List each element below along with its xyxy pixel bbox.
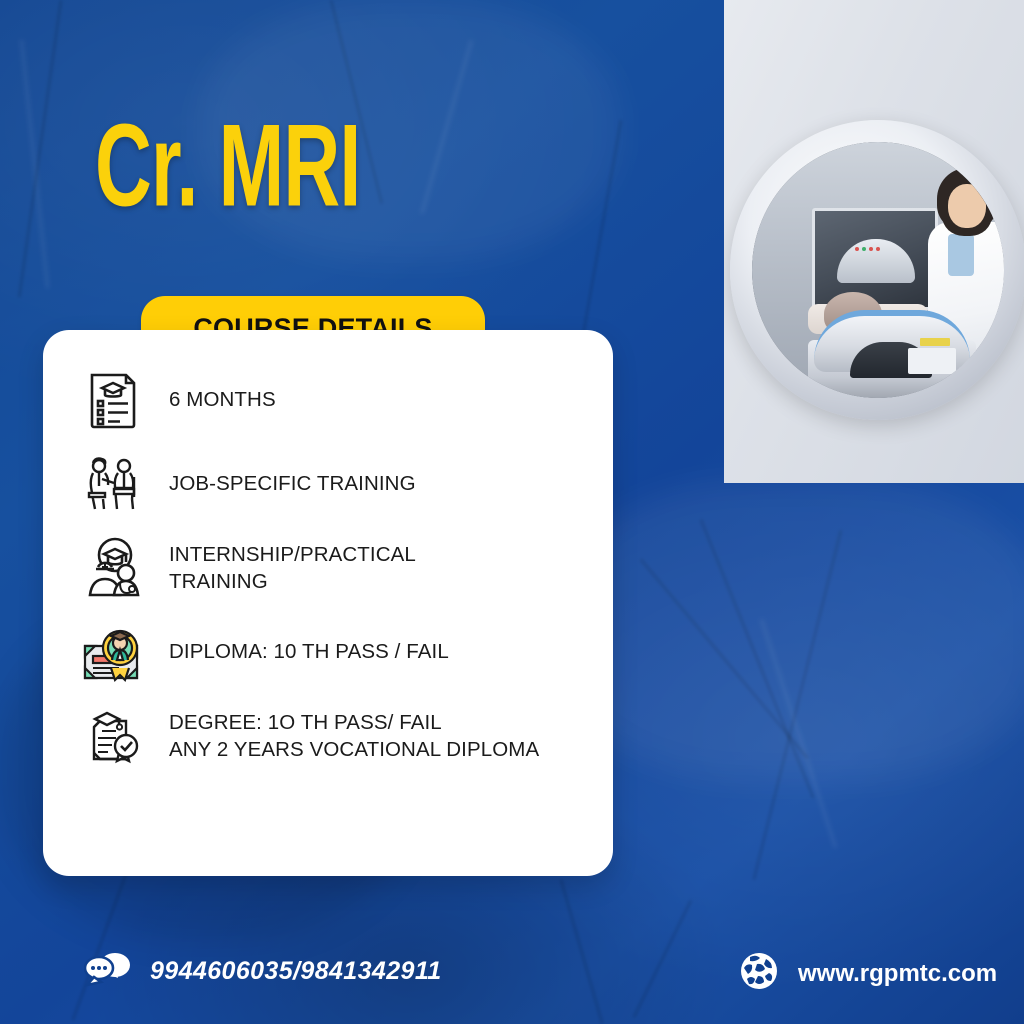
medical-students-graduation-icon bbox=[75, 530, 151, 606]
list-item-line1: INTERNSHIP/PRACTICAL bbox=[169, 543, 416, 566]
monitor-leds bbox=[855, 247, 880, 251]
list-item: DEGREE: 1O TH PASS/ FAIL ANY 2 YEARS VOC… bbox=[43, 694, 613, 778]
mri-bore-opening bbox=[752, 142, 1004, 398]
technician-face bbox=[948, 184, 986, 228]
control-monitor bbox=[812, 208, 938, 310]
list-item: JOB-SPECIFIC TRAINING bbox=[43, 442, 613, 526]
page-title: Cr. MRI bbox=[95, 108, 360, 225]
course-details-card: 6 MONTHS bbox=[43, 330, 613, 876]
list-item-line2: ANY 2 YEARS VOCATIONAL DIPLOMA bbox=[169, 736, 539, 763]
monitor-image-dome bbox=[837, 239, 915, 283]
chat-bubbles-icon bbox=[84, 950, 132, 993]
warning-label bbox=[920, 338, 950, 346]
list-item-line1: DEGREE: 1O TH PASS/ FAIL bbox=[169, 711, 442, 734]
poster-canvas: Cr. MRI COURSE DETAILS bbox=[0, 0, 1024, 1024]
footer-phone-group[interactable]: 9944606035/9841342911 bbox=[84, 950, 442, 993]
list-item: INTERNSHIP/PRACTICAL TRAINING bbox=[43, 526, 613, 610]
list-item-line2: TRAINING bbox=[169, 568, 416, 595]
course-details-list: 6 MONTHS bbox=[43, 330, 613, 876]
globe-icon bbox=[738, 950, 780, 997]
list-item-text: DIPLOMA: 10 TH PASS / FAIL bbox=[169, 638, 449, 665]
list-item: 6 MONTHS bbox=[43, 358, 613, 442]
document-checklist-graduation-icon bbox=[75, 362, 151, 438]
list-item-line1: DIPLOMA: 10 TH PASS / FAIL bbox=[169, 640, 449, 663]
list-item-line1: JOB-SPECIFIC TRAINING bbox=[169, 472, 416, 495]
footer-website-url: www.rgpmtc.com bbox=[798, 960, 997, 988]
footer-phone-number: 9944606035/9841342911 bbox=[150, 957, 442, 986]
list-item-text: DEGREE: 1O TH PASS/ FAIL ANY 2 YEARS VOC… bbox=[169, 709, 539, 763]
degree-certificate-seal-icon bbox=[75, 698, 151, 774]
list-item-text: INTERNSHIP/PRACTICAL TRAINING bbox=[169, 541, 416, 595]
list-item-line1: 6 MONTHS bbox=[169, 388, 276, 411]
job-training-interview-icon bbox=[75, 446, 151, 522]
equipment-label bbox=[908, 348, 956, 374]
footer-website-group[interactable]: www.rgpmtc.com bbox=[738, 950, 997, 997]
list-item-text: 6 MONTHS bbox=[169, 386, 276, 413]
list-item-text: JOB-SPECIFIC TRAINING bbox=[169, 470, 416, 497]
list-item: DIPLOMA: 10 TH PASS / FAIL bbox=[43, 610, 613, 694]
diploma-certificate-medal-icon bbox=[75, 614, 151, 690]
technician-shirt bbox=[948, 234, 974, 276]
footer-bar: 9944606035/9841342911 www.rg bbox=[0, 934, 1024, 1024]
mri-scanner-photo bbox=[724, 0, 1024, 483]
